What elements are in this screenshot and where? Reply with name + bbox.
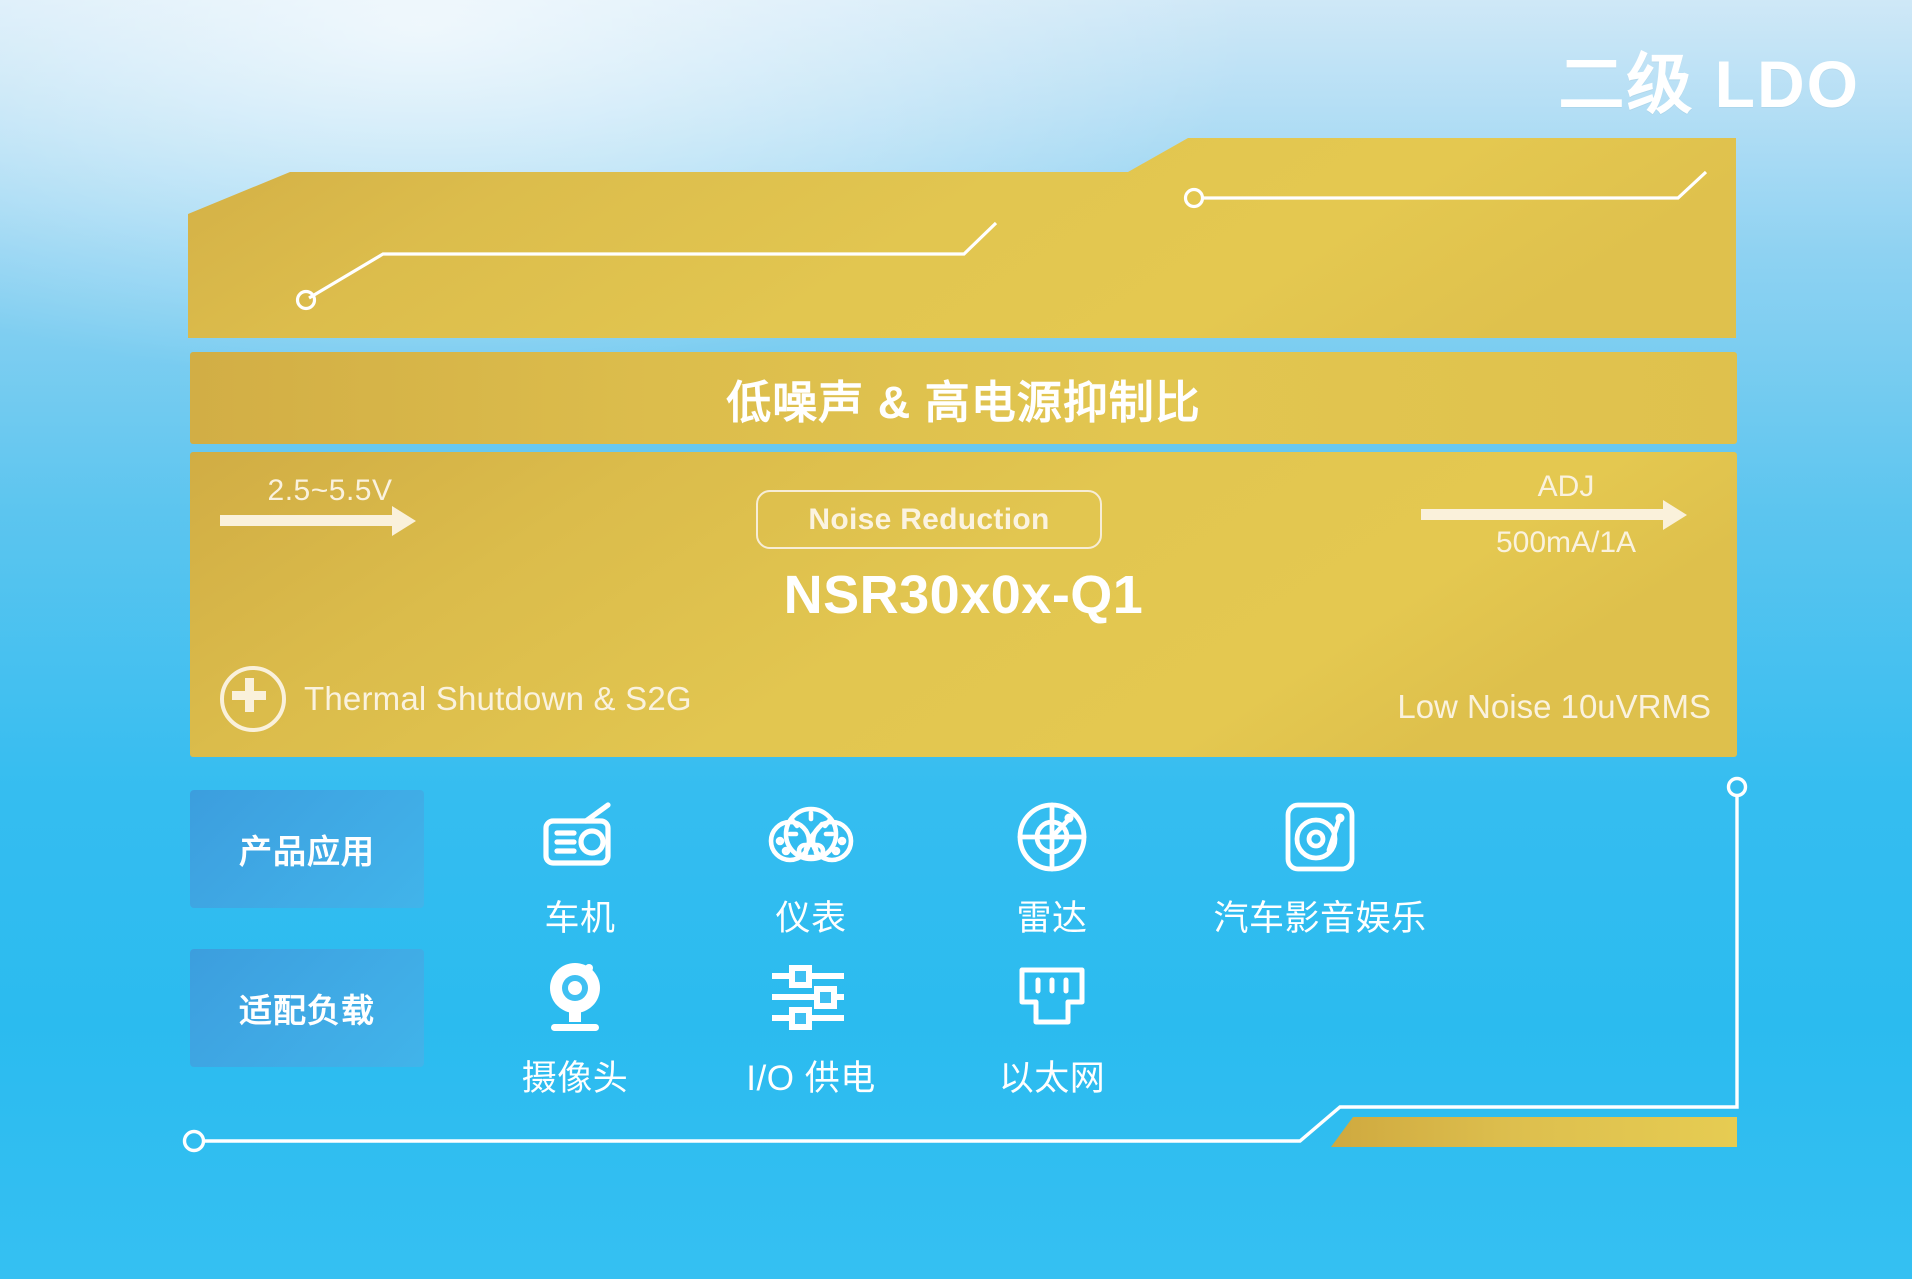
output-adj-label: ADJ [1421, 470, 1711, 504]
app-item-label: 汽车影音娱乐 [1214, 890, 1427, 941]
app-item-instrument-cluster: 仪表 [706, 798, 916, 941]
load-item-label: I/O 供电 [746, 1050, 875, 1101]
output-current-label: 500mA/1A [1421, 526, 1711, 560]
gold-foot-bar [1331, 1117, 1737, 1147]
infographic-canvas: 二级 LDO 低噪声 & 高电源抑制比 2.5~5.5V Noise Reduc… [0, 0, 1912, 1279]
app-item-label: 雷达 [1016, 890, 1087, 941]
load-item-label: 摄像头 [522, 1050, 629, 1101]
car-radio-icon [540, 798, 620, 876]
tag-label: 适配负载 [239, 984, 375, 1032]
subtitle-text: 低噪声 & 高电源抑制比 [726, 366, 1201, 431]
hero-circuit-traces [298, 172, 1707, 309]
load-item-ethernet: 以太网 [947, 958, 1157, 1101]
tag-product-applications: 产品应用 [190, 790, 424, 908]
part-number: NSR30x0x-Q1 [190, 564, 1737, 626]
app-item-label: 仪表 [775, 890, 846, 941]
main-block: 2.5~5.5V Noise Reduction NSR30x0x-Q1 ADJ… [190, 452, 1737, 756]
page-title: 二级 LDO [1558, 10, 1860, 158]
input-voltage-label: 2.5~5.5V [220, 474, 440, 508]
instrument-cluster-icon [768, 798, 854, 876]
thermal-feature: Thermal Shutdown & S2G [220, 666, 692, 732]
radar-icon [1014, 798, 1090, 876]
app-item-radar: 雷达 [947, 798, 1157, 941]
sliders-icon [771, 958, 851, 1036]
low-noise-label: Low Noise 10uVRMS [1397, 688, 1711, 726]
app-item-label: 车机 [544, 890, 615, 941]
tag-label: 产品应用 [239, 825, 375, 873]
noise-reduction-badge: Noise Reduction [756, 490, 1102, 549]
load-item-camera: 摄像头 [470, 958, 680, 1101]
input-arrow-group: 2.5~5.5V [220, 474, 440, 530]
app-item-car-radio: 车机 [475, 798, 685, 941]
output-arrow-group: ADJ 500mA/1A [1421, 470, 1711, 560]
noise-reduction-label: Noise Reduction [808, 503, 1049, 537]
output-arrow-icon [1421, 504, 1711, 524]
load-item-label: 以太网 [999, 1050, 1106, 1101]
subtitle-bar: 低噪声 & 高电源抑制比 [190, 352, 1737, 444]
plus-circle-icon [220, 666, 286, 732]
webcam-icon [539, 958, 611, 1036]
load-item-io-power: I/O 供电 [706, 958, 916, 1101]
hero-banner-shape [188, 138, 1736, 338]
ethernet-port-icon [1014, 958, 1090, 1036]
thermal-feature-label: Thermal Shutdown & S2G [304, 680, 692, 718]
turntable-icon [1283, 798, 1357, 876]
app-item-infotainment: 汽车影音娱乐 [1215, 798, 1425, 941]
input-arrow-icon [220, 510, 440, 530]
tag-supported-loads: 适配负载 [190, 949, 424, 1067]
